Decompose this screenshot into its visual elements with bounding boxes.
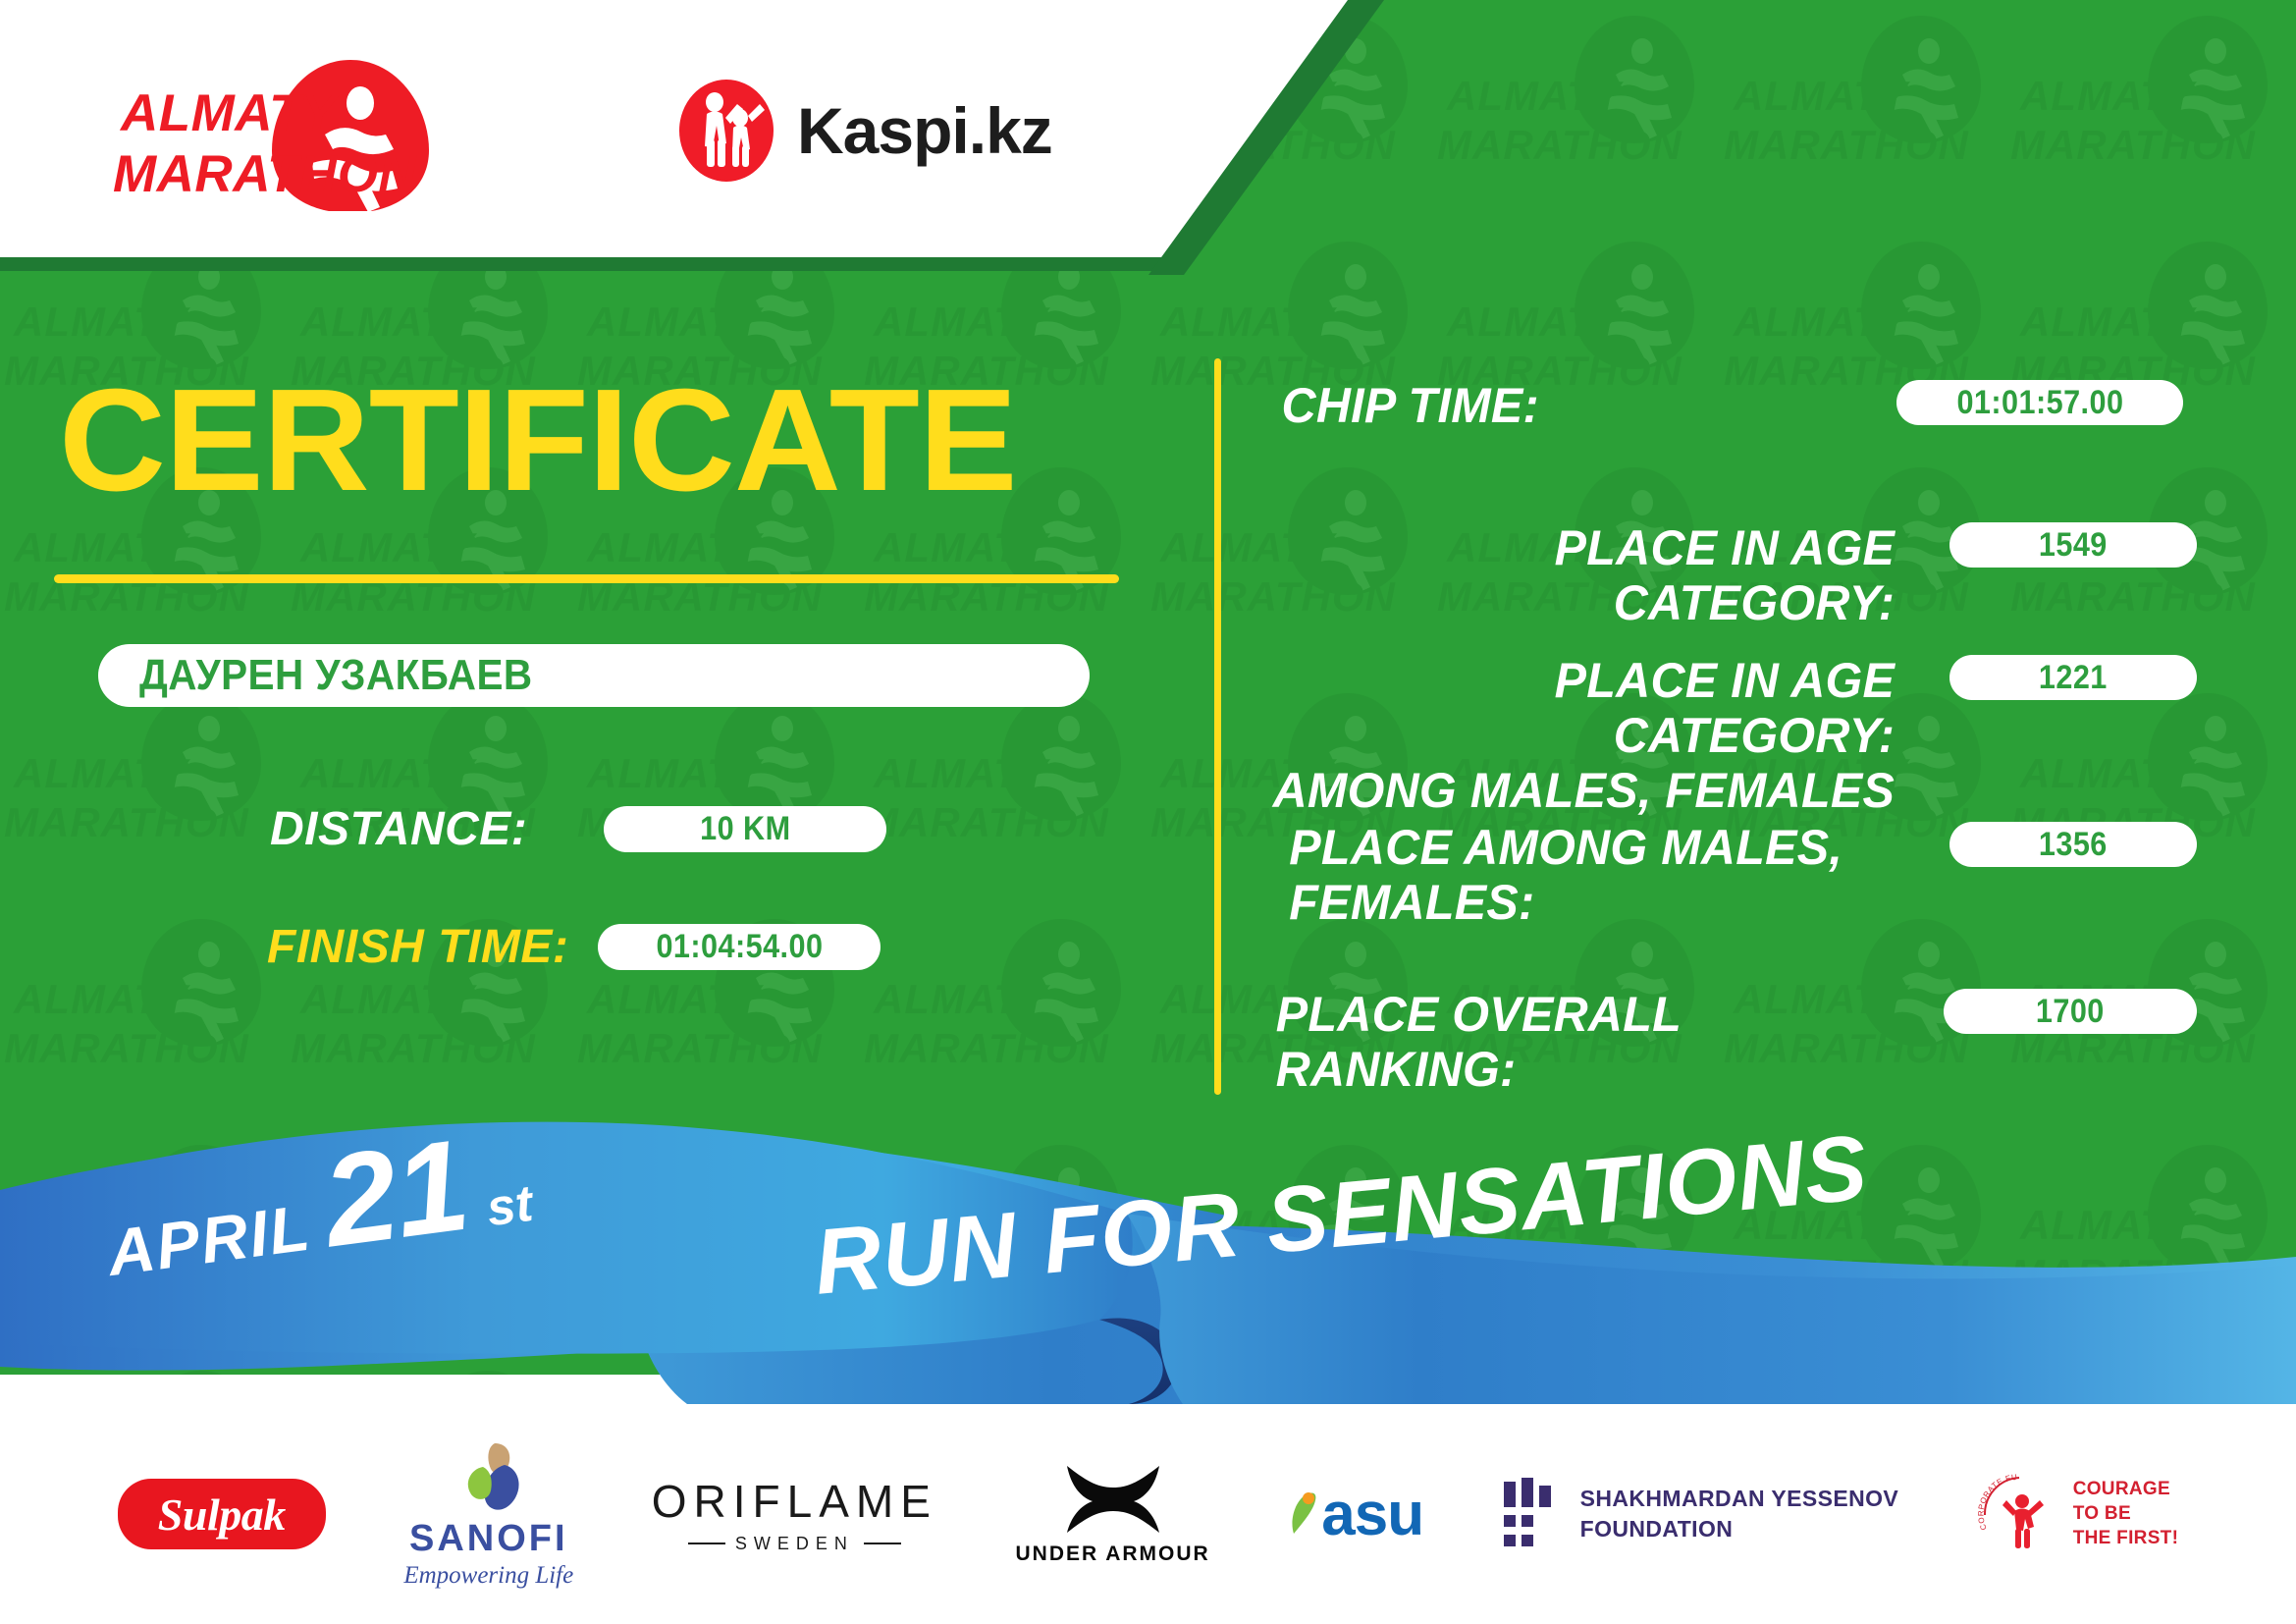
- sponsor-courage-fund: CORPORATE FUND COURAGE TO BE T: [1977, 1472, 2179, 1556]
- result-value: 01:01:57.00: [1956, 384, 2123, 422]
- title-underline: [54, 574, 1119, 583]
- finish-time-label: FINISH TIME:: [267, 920, 568, 974]
- sponsor-yessenov-foundation: SHAKHMARDAN YESSENOV FOUNDATION: [1502, 1478, 1899, 1550]
- yessenov-bars-icon: [1502, 1478, 1563, 1550]
- sponsor-strip: Sulpak SANOFI Empowering Life ORIFLAME S…: [0, 1404, 2296, 1624]
- sponsor-asu: asu: [1288, 1480, 1423, 1549]
- sponsor-oriflame: ORIFLAME SWEDEN: [652, 1475, 937, 1554]
- result-label: PLACE IN AGE CATEGORY:: [1266, 520, 1895, 630]
- svg-text:CORPORATE FUND: CORPORATE FUND: [1977, 1472, 2018, 1532]
- result-row-place-among-gender: PLACE AMONG MALES, FEMALES: 1356: [1266, 820, 2233, 930]
- asu-logo: asu: [1288, 1480, 1423, 1549]
- finish-time-value: 01:04:54.00: [656, 928, 823, 966]
- asu-mark-icon: [1288, 1489, 1317, 1540]
- result-value: 1221: [2039, 659, 2108, 697]
- kaspi-wordmark: Kaspi.kz: [797, 98, 1052, 163]
- sanofi-bird-icon: [444, 1439, 534, 1516]
- courage-line-1: COURAGE: [2073, 1479, 2170, 1500]
- under-armour-logo: UNDER ARMOUR: [1015, 1462, 1209, 1566]
- logo-line-2: MARATHON: [113, 145, 417, 203]
- oriflame-tagline: SWEDEN: [735, 1534, 854, 1554]
- event-day-suffix: st: [483, 1174, 536, 1239]
- logo-line-1: ALMATY: [119, 84, 341, 142]
- courage-line-3: THE FIRST!: [2073, 1528, 2179, 1549]
- under-armour-wordmark: UNDER ARMOUR: [1015, 1543, 1209, 1566]
- sponsor-sanofi: SANOFI Empowering Life: [403, 1439, 573, 1590]
- oriflame-logo: ORIFLAME SWEDEN: [652, 1475, 937, 1554]
- courage-logo: CORPORATE FUND COURAGE TO BE T: [1977, 1472, 2179, 1556]
- result-value: 1549: [2039, 526, 2108, 565]
- result-row-chip-time: CHIP TIME: 01:01:57.00: [1266, 378, 2233, 433]
- result-value-pill: 01:01:57.00: [1896, 380, 2183, 425]
- sulpak-logo: Sulpak: [118, 1479, 326, 1549]
- result-row-place-age-category-gender: PLACE IN AGE CATEGORY: AMONG MALES, FEMA…: [1266, 653, 2233, 818]
- sponsor-under-armour: UNDER ARMOUR: [1015, 1462, 1209, 1566]
- distance-value-pill: 10 KM: [604, 806, 886, 852]
- sanofi-logo: SANOFI Empowering Life: [403, 1439, 573, 1590]
- courage-text: COURAGE TO BE THE FIRST!: [2073, 1479, 2179, 1549]
- participant-name-field: ДАУРЕН УЗАКБАЕВ: [98, 644, 1090, 707]
- distance-label: DISTANCE:: [270, 802, 527, 856]
- oriflame-sub-row: SWEDEN: [688, 1534, 901, 1554]
- result-label: CHIP TIME:: [1266, 378, 1856, 433]
- divider-right: [864, 1543, 901, 1544]
- result-row-place-age-category: PLACE IN AGE CATEGORY: 1549: [1266, 520, 2233, 630]
- result-label: PLACE AMONG MALES, FEMALES:: [1266, 820, 1895, 930]
- yessenov-line-2: FOUNDATION: [1580, 1516, 1899, 1543]
- result-value-pill: 1700: [1944, 989, 2197, 1034]
- participant-name: ДАУРЕН УЗАКБАЕВ: [139, 651, 533, 700]
- page-title: CERTIFICATE: [59, 368, 1141, 514]
- divider-left: [688, 1543, 725, 1544]
- yessenov-text: SHAKHMARDAN YESSENOV FOUNDATION: [1580, 1486, 1899, 1543]
- sponsor-sulpak: Sulpak: [118, 1479, 326, 1549]
- kaspi-people-icon: [677, 79, 775, 183]
- oriflame-wordmark: ORIFLAME: [652, 1475, 937, 1528]
- almaty-marathon-logo: ALMATY MARATHON: [113, 54, 447, 211]
- result-value-pill: 1356: [1949, 822, 2197, 867]
- result-value-pill: 1221: [1949, 655, 2197, 700]
- kaspi-logo: Kaspi.kz: [677, 77, 1070, 185]
- sanofi-tagline: Empowering Life: [403, 1562, 573, 1590]
- finish-time-value-pill: 01:04:54.00: [598, 924, 881, 970]
- yessenov-logo: SHAKHMARDAN YESSENOV FOUNDATION: [1502, 1478, 1899, 1550]
- yessenov-line-1: SHAKHMARDAN YESSENOV: [1580, 1486, 1899, 1512]
- event-day: 21: [318, 1127, 474, 1262]
- courage-person-icon: CORPORATE FUND: [1977, 1472, 2061, 1556]
- finish-time-row: FINISH TIME: 01:04:54.00: [267, 920, 881, 974]
- under-armour-icon: [1055, 1462, 1171, 1535]
- sulpak-wordmark: Sulpak: [158, 1489, 286, 1541]
- distance-row: DISTANCE: 10 KM: [270, 802, 886, 856]
- courage-line-2: TO BE: [2073, 1503, 2131, 1525]
- sanofi-wordmark: SANOFI: [409, 1518, 568, 1560]
- result-value: 1700: [2036, 993, 2105, 1031]
- distance-value: 10 KM: [700, 810, 790, 848]
- vertical-divider: [1214, 358, 1221, 1095]
- result-value-pill: 1549: [1949, 522, 2197, 568]
- certificate-page: ALMATY MARATHON ALMATY MARATHON: [0, 0, 2296, 1624]
- result-label: PLACE IN AGE CATEGORY: AMONG MALES, FEMA…: [1266, 653, 1895, 818]
- asu-wordmark: asu: [1321, 1480, 1423, 1549]
- result-value: 1356: [2039, 826, 2108, 864]
